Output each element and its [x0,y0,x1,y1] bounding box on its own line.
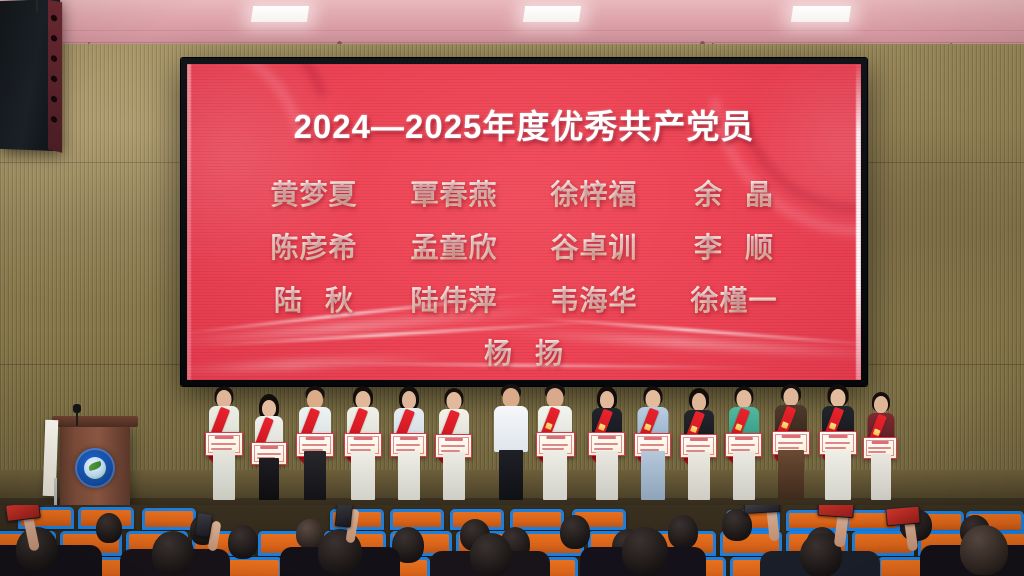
microphone-icon [73,404,81,413]
audience-member [152,531,194,575]
awardee-name: 谷卓训 [542,226,646,266]
lectern-top [52,416,138,427]
awardee-name: 余晶 [682,173,786,213]
name-row: 陆秋 陆伟萍 韦海华 徐槿一 [187,279,861,319]
audience-member [96,513,122,543]
awardee-figure [345,386,381,500]
auditorium-seat[interactable] [142,508,196,530]
slide-title: 2024—2025年度优秀共产党员 [294,100,755,148]
awardee-figure [866,392,896,500]
audience-member [622,527,668,575]
audience-member [960,525,1008,575]
ceiling-light-panel [251,6,309,22]
awardee-figure [253,394,285,500]
awardee-name: 徐梓福 [542,173,646,213]
awardee-name-list: 黄梦夏 覃春燕 徐梓福 余晶 陈彦希 孟童欣 谷卓训 李顺 陆秋 陆伟萍 [187,173,861,380]
awardee-figure [297,386,333,500]
awardee-figure [682,388,716,500]
awardee-name: 杨扬 [472,332,576,372]
ceiling-light-panel [523,6,581,22]
awardee-figure [820,384,856,500]
line-array-speaker [0,0,60,151]
awardee-name: 孟童欣 [402,226,506,266]
awardee-name: 陆伟萍 [402,279,506,319]
awardee-name: 韦海华 [542,279,646,319]
awardee-figure [536,384,574,500]
auditorium-photo: 2024—2025年度优秀共产党员 黄梦夏 覃春燕 徐梓福 余晶 陈彦希 孟童欣… [0,0,1024,576]
name-row: 陈彦希 孟童欣 谷卓训 李顺 [187,226,861,266]
awardee-figure [773,384,809,500]
audience-seating [0,505,1024,576]
awardee-figure [636,386,670,500]
name-row: 杨扬 [187,332,861,372]
ceiling [0,0,1024,46]
led-display-screen: 2024—2025年度优秀共产党员 黄梦夏 覃春燕 徐梓福 余晶 陈彦希 孟童欣… [187,64,861,380]
awardee-name: 陈彦希 [262,226,366,266]
awardee-figure [437,388,471,500]
awardee-name: 徐槿一 [682,279,786,319]
audience-member [560,515,590,549]
awardee-figure [392,386,426,500]
smartphone[interactable] [335,505,354,528]
led-display-bezel: 2024—2025年度优秀共产党员 黄梦夏 覃春燕 徐梓福 余晶 陈彦希 孟童欣… [181,58,867,386]
auditorium-seat[interactable] [390,509,444,530]
smartphone[interactable] [885,506,920,527]
name-row: 黄梦夏 覃春燕 徐梓福 余晶 [187,173,861,213]
school-crest-emblem [75,448,115,488]
awardee-figure [207,386,241,500]
awardee-name: 覃春燕 [402,173,506,213]
awardee-name: 黄梦夏 [262,173,366,213]
audience-member [470,533,512,576]
official-figure [492,384,530,500]
audience-member [722,509,752,541]
slide-content: 2024—2025年度优秀共产党员 黄梦夏 覃春燕 徐梓福 余晶 陈彦希 孟童欣… [187,64,861,380]
audience-member [228,525,258,559]
lectern [60,424,130,510]
awardee-name: 陆秋 [262,279,366,319]
audience-member [668,515,698,549]
awardee-name: 李顺 [682,226,786,266]
awardee-figure [727,386,761,500]
ceiling-light-panel [791,6,851,22]
awardee-figure [590,386,624,500]
